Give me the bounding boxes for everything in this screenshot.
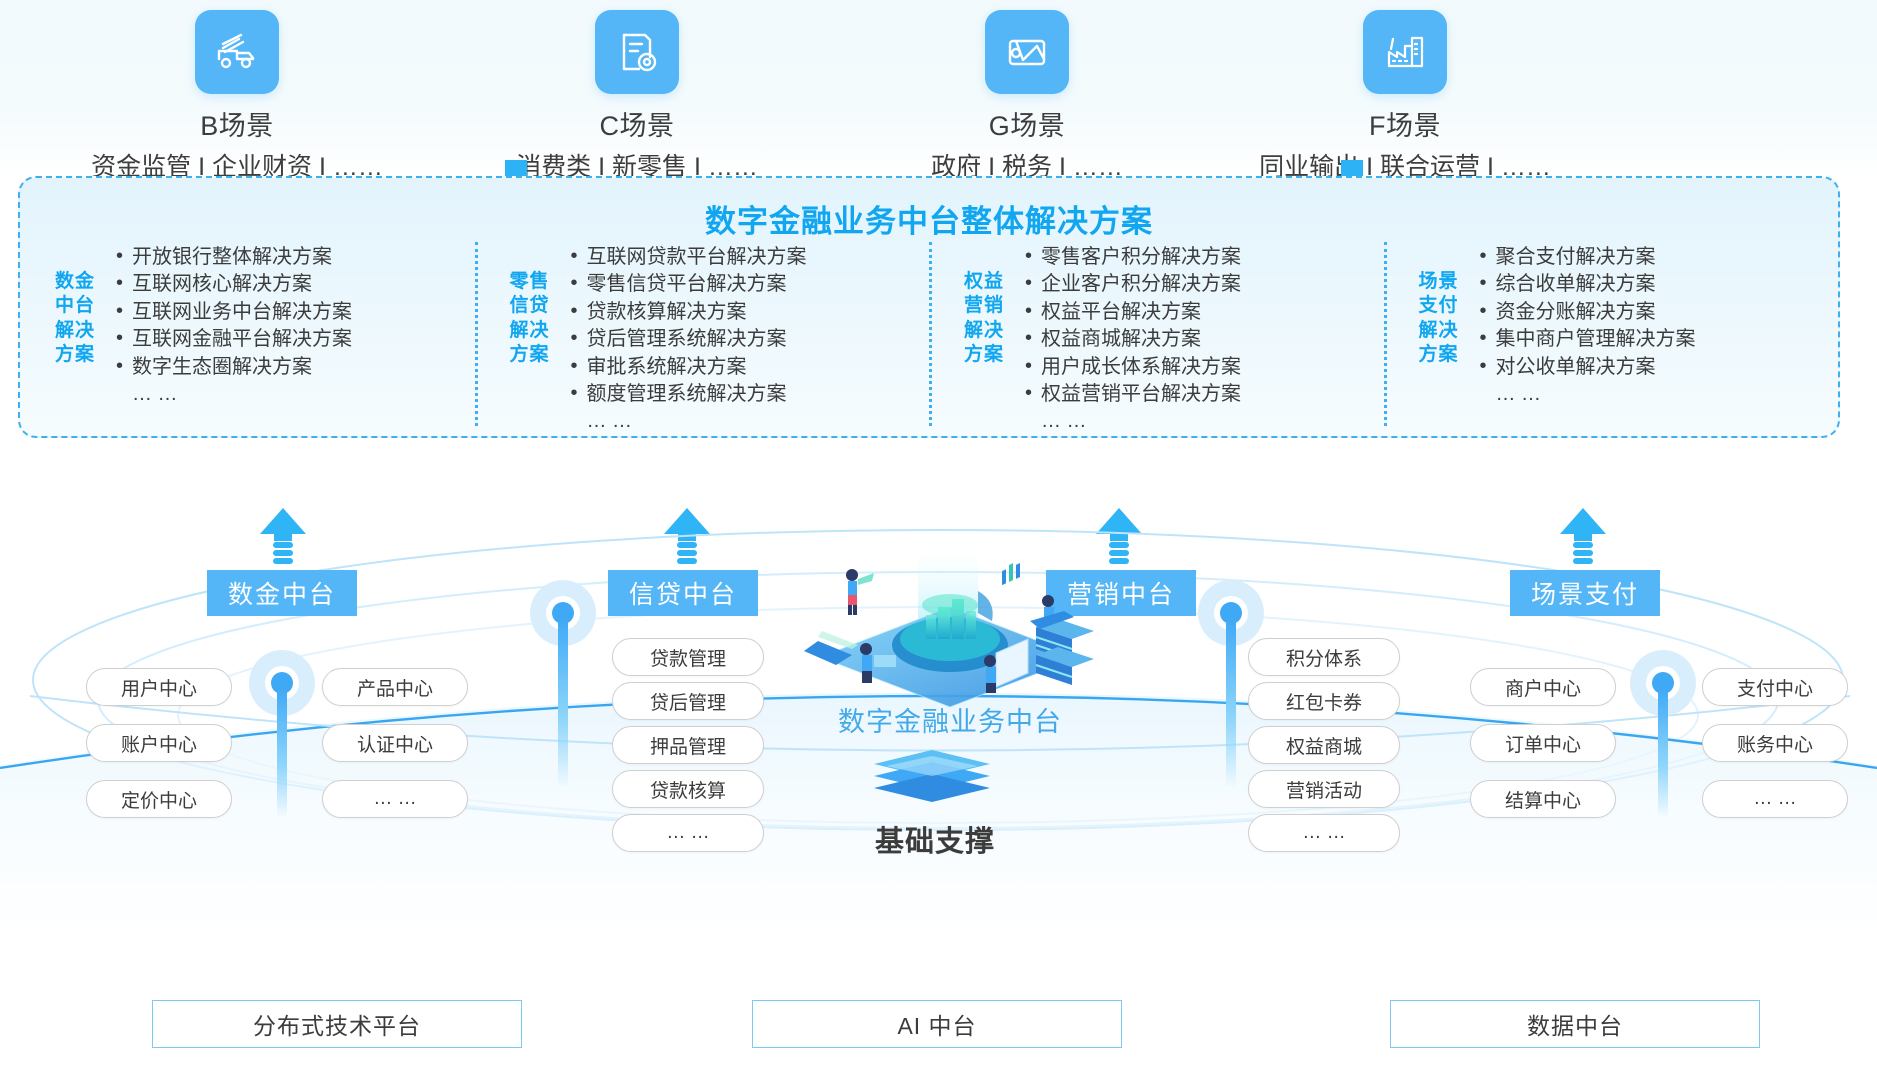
solution-item: 集中商户管理解决方案 [1478,326,1696,353]
foundation-box-data-platform[interactable]: 数据中台 [1390,1000,1760,1048]
solution-item: 开放银行整体解决方案 [114,244,352,271]
scene-title: B场景 [72,104,402,143]
capability-chip[interactable]: 账户中心 [86,724,232,762]
solution-item: 互联网贷款平台解决方案 [569,244,807,271]
scene-card-g: G场景 政府 I 税务 I …… [862,10,1192,183]
capability-chip[interactable]: 产品中心 [322,668,468,706]
platform-pin-credit [530,580,596,790]
solution-item: 权益营销平台解决方案 [1023,381,1241,408]
solution-item-list: 开放银行整体解决方案 互联网核心解决方案 互联网业务中台解决方案 互联网金融平台… [114,244,352,408]
scene-title: C场景 [472,104,802,143]
capability-chip[interactable]: 营销活动 [1248,770,1400,808]
solution-panel-title: 数字金融业务中台整体解决方案 [20,196,1838,241]
data-center-illustration [800,545,1100,715]
solution-item: 零售信贷平台解决方案 [569,271,807,298]
truck-scene-icon [195,10,279,94]
solution-column-digital-finance: 数金 中台 解决 方案 开放银行整体解决方案 互联网核心解决方案 互联网业务中台… [20,240,475,432]
capability-chip[interactable]: 权益商城 [1248,726,1400,764]
capability-chip[interactable]: 积分体系 [1248,638,1400,676]
platform-pin-digital-finance [249,650,315,820]
solution-item-list: 聚合支付解决方案 综合收单解决方案 资金分账解决方案 集中商户管理解决方案 对公… [1478,244,1696,408]
capability-chip[interactable]: 红包卡券 [1248,682,1400,720]
scene-card-b: B场景 资金监管 I 企业财资 I …… [72,10,402,183]
layers-stack-icon [868,748,996,810]
solution-item: 聚合支付解决方案 [1478,244,1696,271]
solution-item-more: … … [1478,381,1696,408]
foundation-box-distributed-platform[interactable]: 分布式技术平台 [152,1000,522,1048]
solution-item: 互联网核心解决方案 [114,271,352,298]
capability-chip[interactable]: … … [612,814,764,852]
capability-chip[interactable]: 用户中心 [86,668,232,706]
capability-chip[interactable]: 账务中心 [1702,724,1848,762]
factory-scene-icon [1363,10,1447,94]
map-scene-icon [985,10,1069,94]
solution-item: 贷款核算解决方案 [569,299,807,326]
solution-column-retail-credit: 零售 信贷 解决 方案 互联网贷款平台解决方案 零售信贷平台解决方案 贷款核算解… [475,240,930,432]
foundation-title: 基础支撑 [810,818,1060,860]
solution-item: 企业客户积分解决方案 [1023,271,1241,298]
capability-chip[interactable]: 结算中心 [1470,780,1616,818]
scene-title: G场景 [862,104,1192,143]
solution-item: 互联网业务中台解决方案 [114,299,352,326]
solution-item: 综合收单解决方案 [1478,271,1696,298]
solution-column-scene-payment: 场景 支付 解决 方案 聚合支付解决方案 综合收单解决方案 资金分账解决方案 集… [1384,240,1839,432]
solution-column-tag: 零售 信贷 解决 方案 [499,244,561,367]
capability-chip[interactable]: 定价中心 [86,780,232,818]
solution-item: 用户成长体系解决方案 [1023,354,1241,381]
solution-column-rights-marketing: 权益 营销 解决 方案 零售客户积分解决方案 企业客户积分解决方案 权益平台解决… [929,240,1384,432]
foundation-box-ai-platform[interactable]: AI 中台 [752,1000,1122,1048]
capability-chip[interactable]: 订单中心 [1470,724,1616,762]
solution-item-list: 互联网贷款平台解决方案 零售信贷平台解决方案 贷款核算解决方案 贷后管理系统解决… [569,244,807,436]
capability-chip[interactable]: 贷后管理 [612,682,764,720]
capability-chip[interactable]: 贷款管理 [612,638,764,676]
solution-item-more: … … [114,381,352,408]
capability-chip[interactable]: … … [1702,780,1848,818]
solution-item: 资金分账解决方案 [1478,299,1696,326]
solution-item-more: … … [1023,408,1241,435]
scene-card-f: F场景 同业输出 I 联合运营 I …… [1240,10,1570,183]
solution-item: 对公收单解决方案 [1478,354,1696,381]
solution-item: 权益平台解决方案 [1023,299,1241,326]
document-seal-scene-icon [595,10,679,94]
platform-label-credit[interactable]: 信贷中台 [608,570,758,616]
diagram-canvas: B场景 资金监管 I 企业财资 I …… C场景 消费类 I 新零售 I …… … [0,0,1877,1070]
capability-chip[interactable]: 支付中心 [1702,668,1848,706]
capability-chip[interactable]: … … [1248,814,1400,852]
solution-item: 权益商城解决方案 [1023,326,1241,353]
solution-item: 零售客户积分解决方案 [1023,244,1241,271]
solution-item-list: 零售客户积分解决方案 企业客户积分解决方案 权益平台解决方案 权益商城解决方案 … [1023,244,1241,436]
solution-item: 额度管理系统解决方案 [569,381,807,408]
scene-card-c: C场景 消费类 I 新零售 I …… [472,10,802,183]
capability-chip[interactable]: … … [322,780,468,818]
solution-item: 互联网金融平台解决方案 [114,326,352,353]
platform-label-payment[interactable]: 场景支付 [1510,570,1660,616]
solution-panel: 数字金融业务中台整体解决方案 数金 中台 解决 方案 开放银行整体解决方案 互联… [18,176,1840,438]
capability-chip[interactable]: 押品管理 [612,726,764,764]
platform-label-digital-finance[interactable]: 数金中台 [207,570,357,616]
capability-chip[interactable]: 贷款核算 [612,770,764,808]
solution-item: 审批系统解决方案 [569,354,807,381]
solution-column-tag: 数金 中台 解决 方案 [44,244,106,367]
solution-column-tag: 权益 营销 解决 方案 [953,244,1015,367]
center-caption: 数字金融业务中台 [760,700,1140,739]
solution-column-tag: 场景 支付 解决 方案 [1408,244,1470,367]
solution-item: 数字生态圈解决方案 [114,354,352,381]
capability-chip[interactable]: 认证中心 [322,724,468,762]
solution-item: 贷后管理系统解决方案 [569,326,807,353]
scene-title: F场景 [1240,104,1570,143]
solution-item-more: … … [569,408,807,435]
platform-pin-payment [1630,650,1696,820]
capability-chip[interactable]: 商户中心 [1470,668,1616,706]
